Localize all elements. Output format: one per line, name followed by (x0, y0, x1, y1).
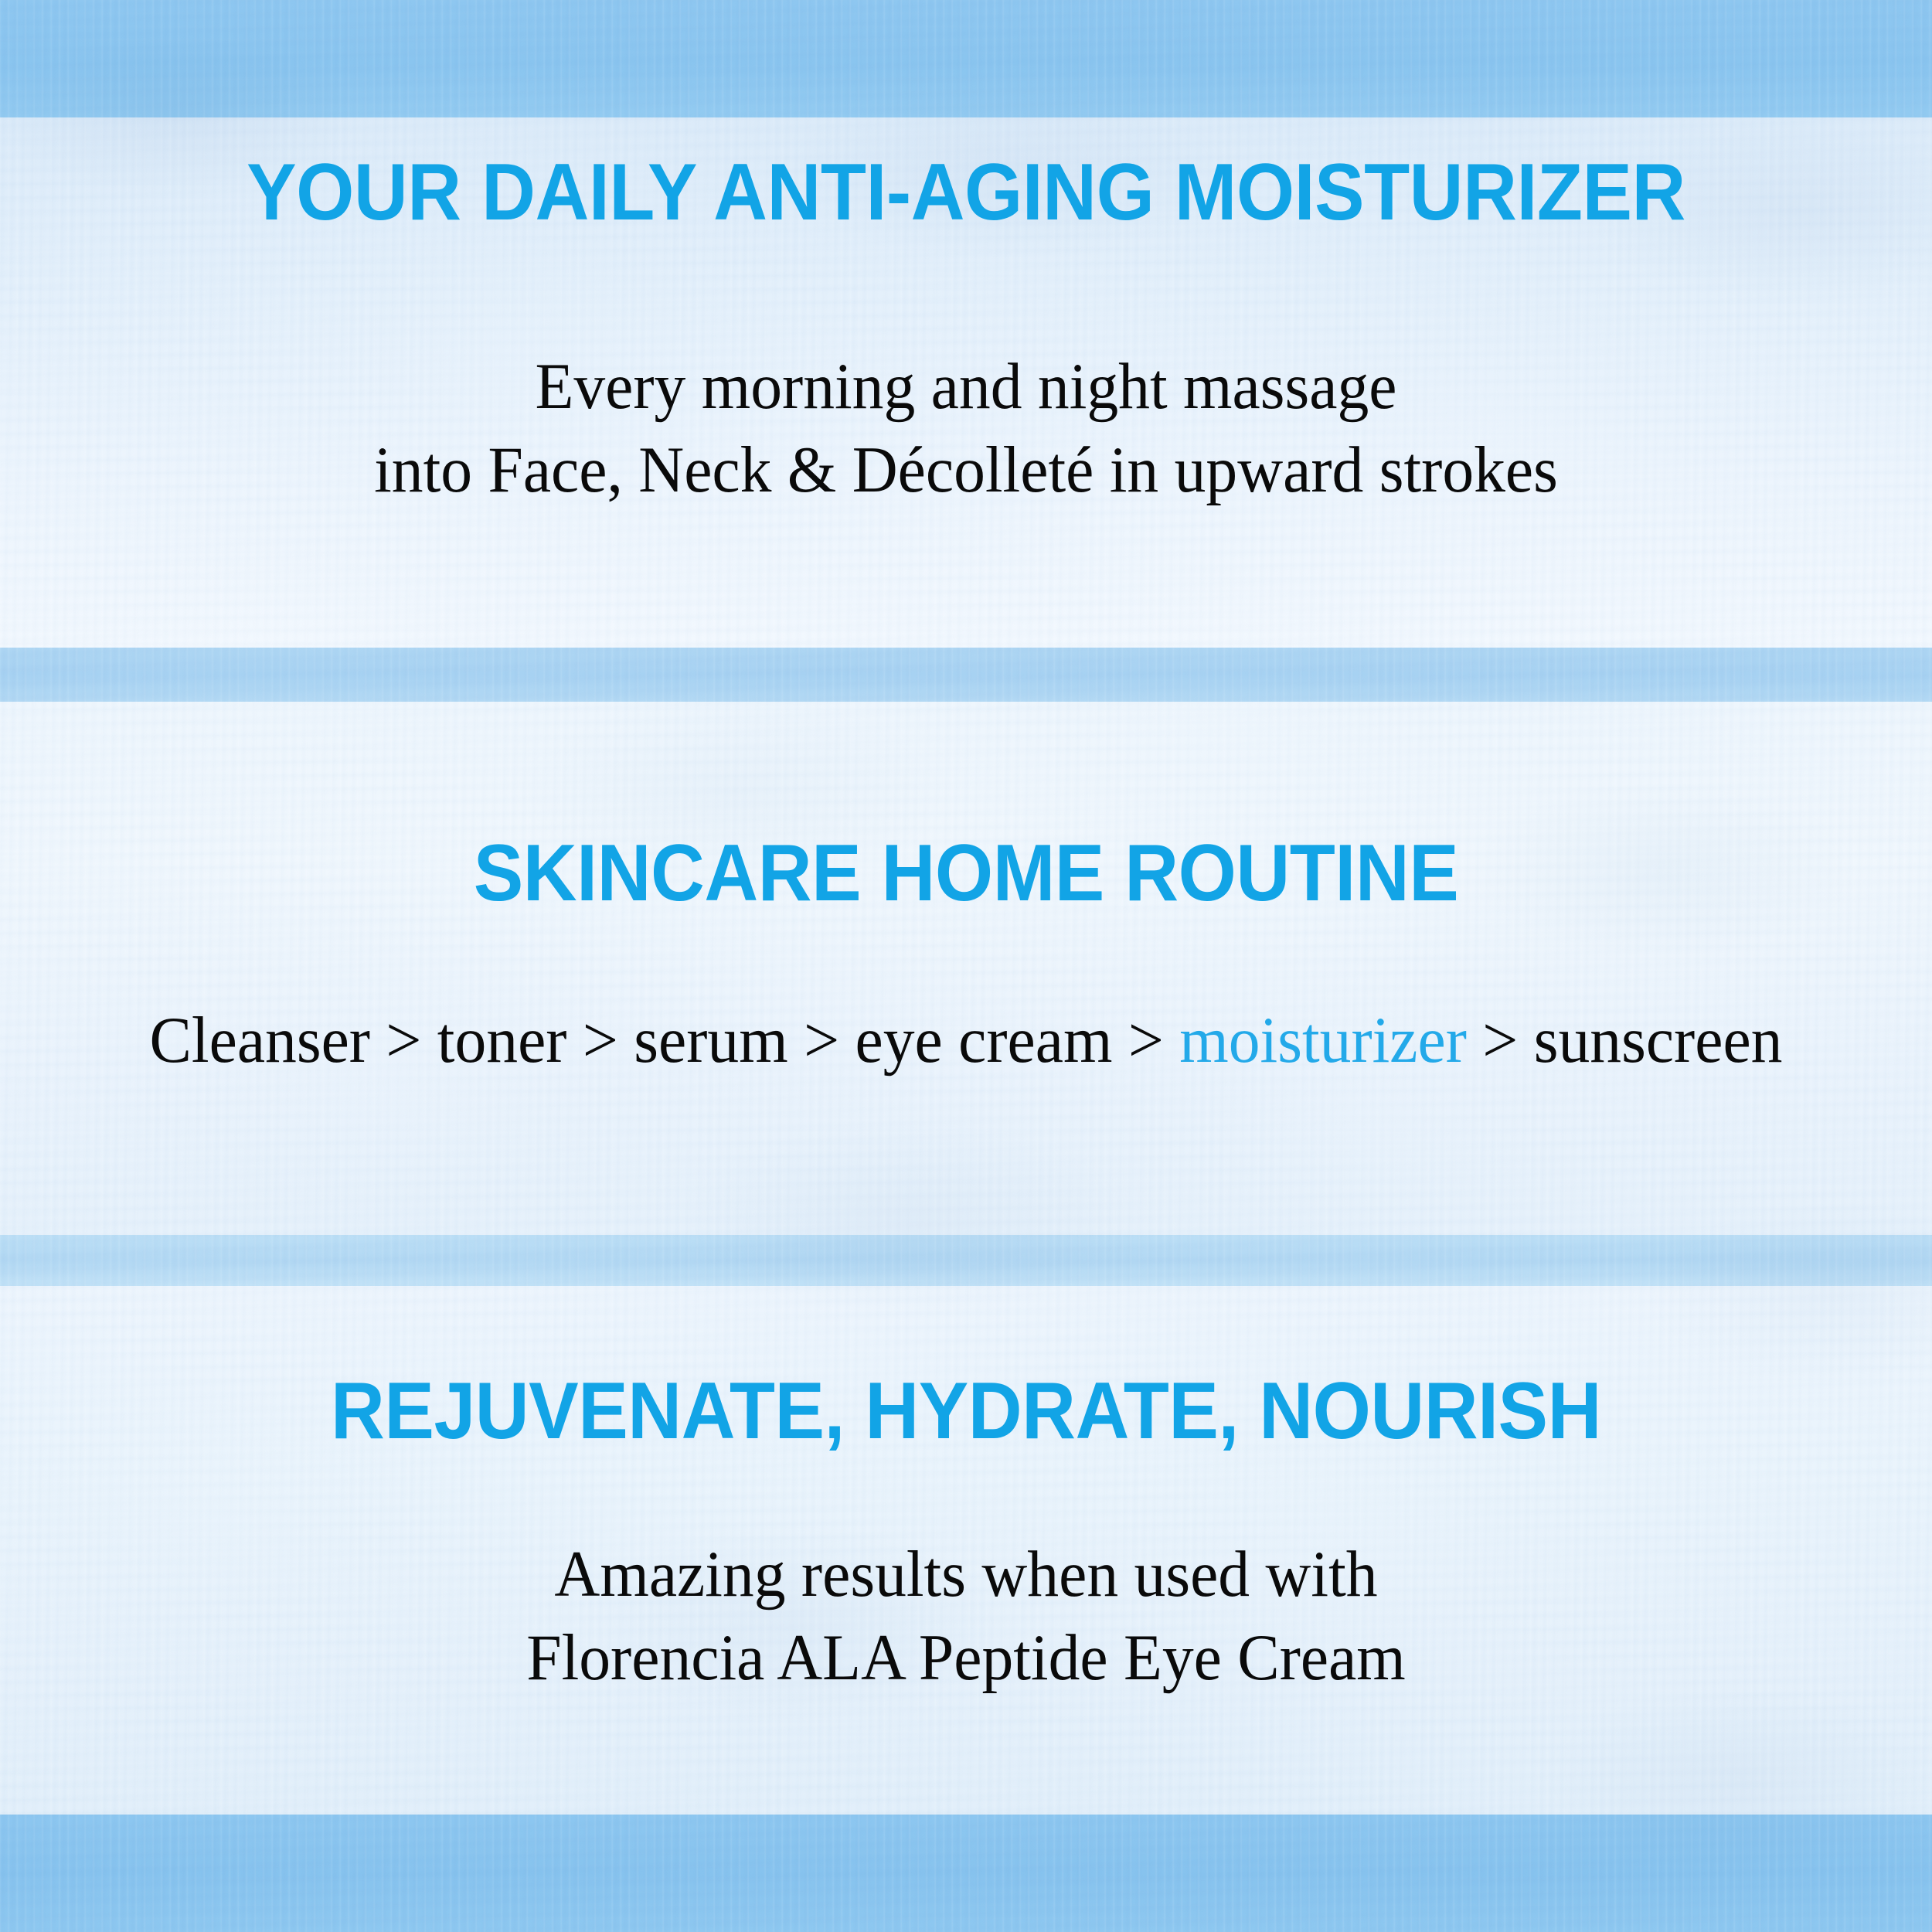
routine-highlighted-step: moisturizer (1179, 1004, 1467, 1077)
section-daily-moisturizer: YOUR DAILY ANTI-AGING MOISTURIZER Every … (0, 117, 1932, 648)
section-skincare-routine: SKINCARE HOME ROUTINE Cleanser > toner >… (0, 702, 1932, 1235)
section-3-body-line-1: Amazing results when used with (39, 1533, 1893, 1617)
routine-suffix: > sunscreen (1467, 1004, 1783, 1077)
poster-content: YOUR DAILY ANTI-AGING MOISTURIZER Every … (0, 0, 1932, 1932)
section-3-body-line-2: Florencia ALA Peptide Eye Cream (39, 1617, 1893, 1700)
routine-prefix: Cleanser > toner > serum > eye cream > (150, 1004, 1180, 1077)
routine-sequence: Cleanser > toner > serum > eye cream > m… (39, 999, 1893, 1083)
section-3-body: Amazing results when used with Florencia… (0, 1533, 1932, 1700)
section-2-headline: SKINCARE HOME ROUTINE (68, 833, 1865, 913)
section-rejuvenate: REJUVENATE, HYDRATE, NOURISH Amazing res… (0, 1286, 1932, 1815)
section-1-body-line-1: Every morning and night massage (39, 345, 1893, 429)
section-1-body-line-2: into Face, Neck & Décolleté in upward st… (39, 429, 1893, 512)
product-info-poster: YOUR DAILY ANTI-AGING MOISTURIZER Every … (0, 0, 1932, 1932)
section-3-headline: REJUVENATE, HYDRATE, NOURISH (68, 1371, 1865, 1451)
section-1-headline: YOUR DAILY ANTI-AGING MOISTURIZER (68, 152, 1865, 233)
section-1-body: Every morning and night massage into Fac… (0, 345, 1932, 512)
